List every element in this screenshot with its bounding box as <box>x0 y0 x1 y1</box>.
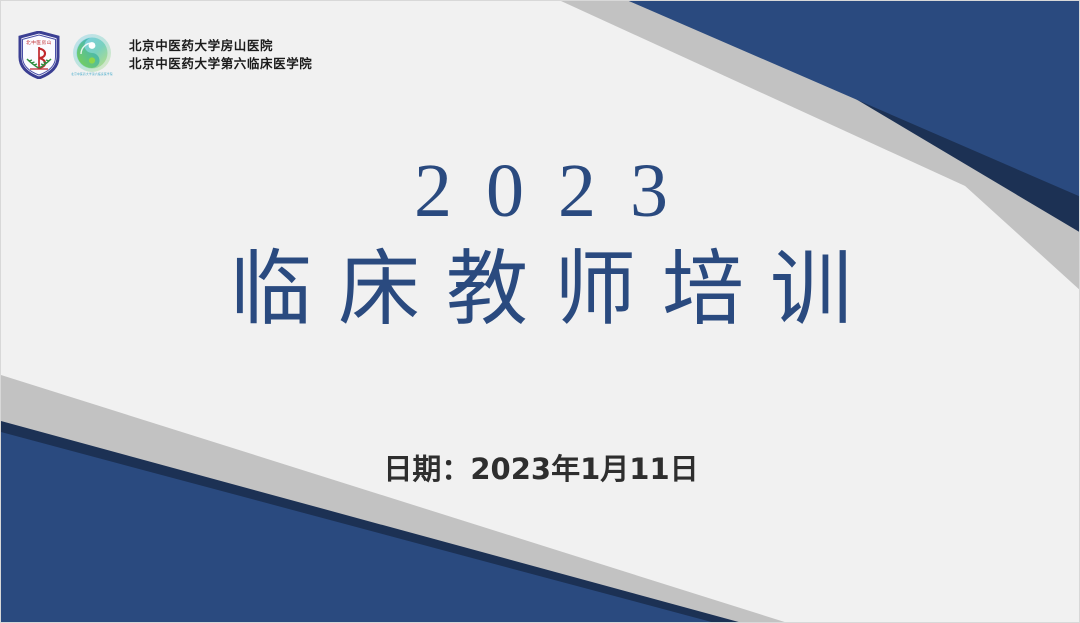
decorative-background <box>1 1 1080 623</box>
presentation-slide: 北中医房山 <box>0 0 1080 623</box>
brand-text-block: 北京中医药大学房山医院 北京中医药大学第六临床医学院 <box>129 37 312 73</box>
brand-header: 北中医房山 <box>17 31 312 79</box>
brand-line-hospital: 北京中医药大学房山医院 <box>129 37 312 55</box>
svg-text:北京中医药大学第六临床医学院: 北京中医药大学第六临床医学院 <box>71 72 113 76</box>
svg-text:北中医房山: 北中医房山 <box>26 39 52 46</box>
college-circle-logo-icon: 北京中医药大学第六临床医学院 <box>69 32 115 78</box>
hospital-shield-logo-icon: 北中医房山 <box>17 31 61 79</box>
brand-line-college: 北京中医药大学第六临床医学院 <box>129 55 312 73</box>
